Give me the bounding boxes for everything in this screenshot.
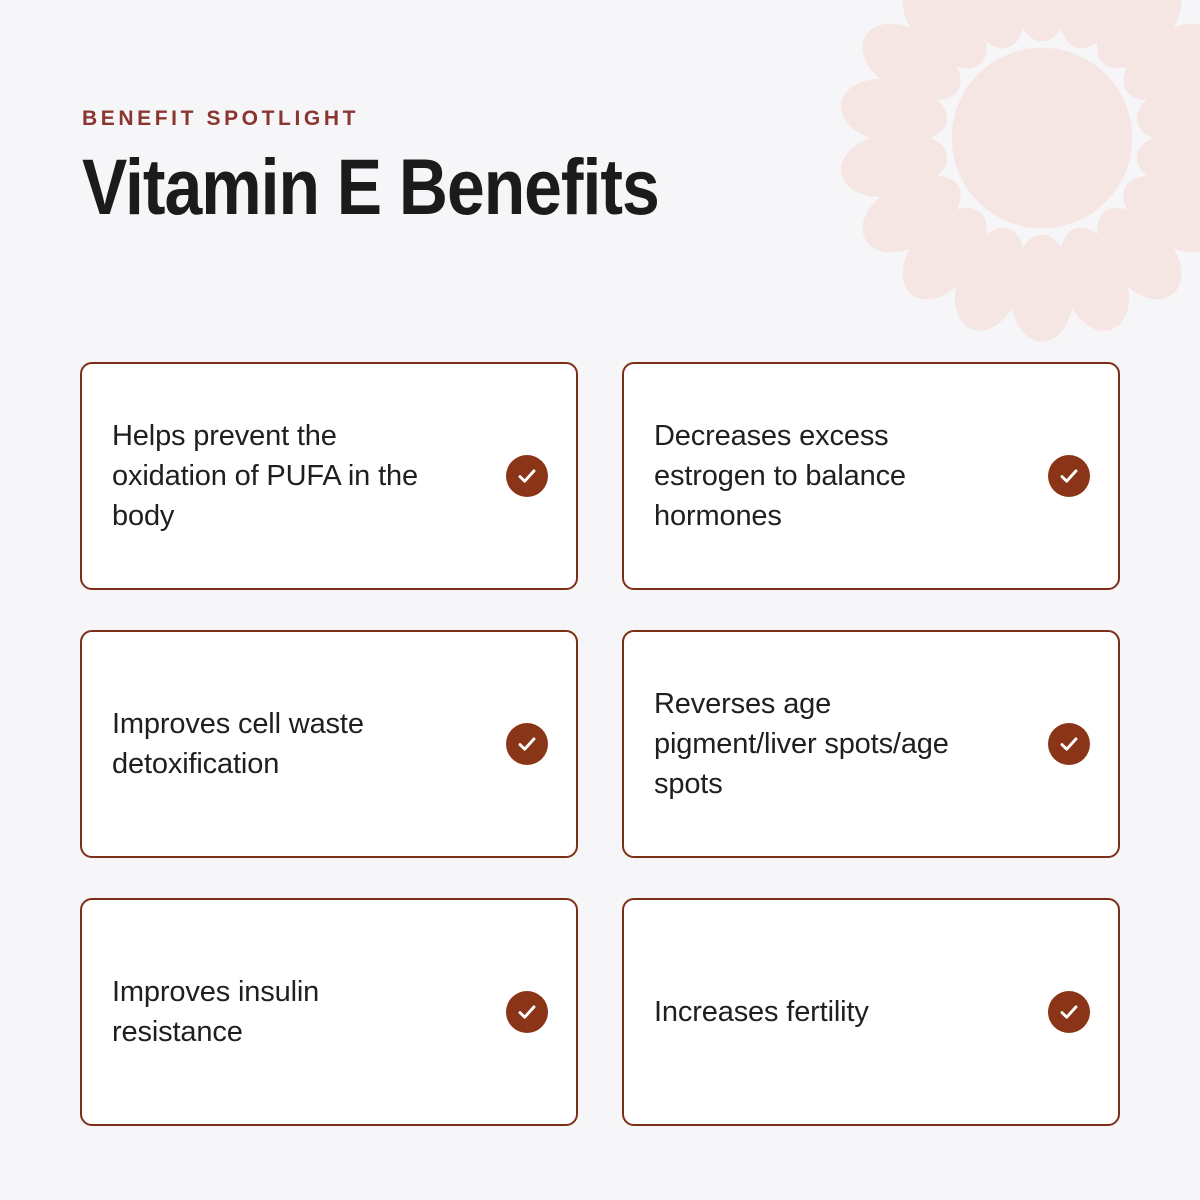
benefit-text: Reverses age pigment/liver spots/age spo… — [654, 684, 984, 804]
flower-petal — [1011, 0, 1074, 41]
sunflower-icon — [832, 0, 1200, 348]
benefit-text: Helps prevent the oxidation of PUFA in t… — [112, 416, 442, 536]
flower-petal — [1110, 159, 1200, 267]
sunflower-decoration — [832, 0, 1200, 348]
benefit-card-excess-estrogen[interactable]: Decreases excess estrogen to balance hor… — [622, 362, 1120, 590]
flower-petal — [887, 192, 1004, 315]
page-title: Vitamin E Benefits — [82, 147, 659, 226]
check-icon — [515, 732, 539, 756]
flower-petal — [836, 72, 952, 153]
header: BENEFIT SPOTLIGHT Vitamin E Benefits — [82, 108, 753, 226]
check-circle-icon — [1048, 723, 1090, 765]
flower-petal — [1132, 72, 1200, 153]
check-icon — [1057, 464, 1081, 488]
flower-petal — [1080, 192, 1197, 315]
flower-petal — [943, 218, 1039, 340]
check-icon — [515, 464, 539, 488]
flower-petal — [1110, 9, 1200, 117]
benefit-card-cell-waste-detox[interactable]: Improves cell waste detoxification — [80, 630, 578, 858]
flower-petal — [1045, 0, 1141, 58]
check-circle-icon — [1048, 991, 1090, 1033]
benefit-text: Decreases excess estrogen to balance hor… — [654, 416, 984, 536]
check-icon — [1057, 1000, 1081, 1024]
flower-petal — [887, 0, 1004, 84]
flower-petal — [1080, 0, 1197, 84]
benefit-text: Improves cell waste detoxification — [112, 704, 442, 784]
flower-petal — [1132, 124, 1200, 205]
benefit-card-fertility[interactable]: Increases fertility — [622, 898, 1120, 1126]
check-icon — [1057, 732, 1081, 756]
flower-petal — [850, 9, 974, 117]
check-circle-icon — [506, 723, 548, 765]
benefit-card-age-pigment[interactable]: Reverses age pigment/liver spots/age spo… — [622, 630, 1120, 858]
check-circle-icon — [506, 991, 548, 1033]
benefit-card-pufa-oxidation[interactable]: Helps prevent the oxidation of PUFA in t… — [80, 362, 578, 590]
flower-petal — [836, 124, 952, 205]
check-circle-icon — [506, 455, 548, 497]
flower-center — [952, 48, 1133, 229]
eyebrow-label: BENEFIT SPOTLIGHT — [82, 108, 753, 129]
flower-petal — [850, 159, 974, 267]
benefit-grid: Helps prevent the oxidation of PUFA in t… — [80, 362, 1120, 1126]
benefit-text: Improves insulin resistance — [112, 972, 442, 1052]
benefit-text: Increases fertility — [654, 992, 869, 1032]
check-icon — [515, 1000, 539, 1024]
benefit-card-insulin-resistance[interactable]: Improves insulin resistance — [80, 898, 578, 1126]
flower-petal — [1045, 218, 1141, 340]
flower-petal — [1011, 235, 1074, 342]
flower-petal — [943, 0, 1039, 58]
check-circle-icon — [1048, 455, 1090, 497]
